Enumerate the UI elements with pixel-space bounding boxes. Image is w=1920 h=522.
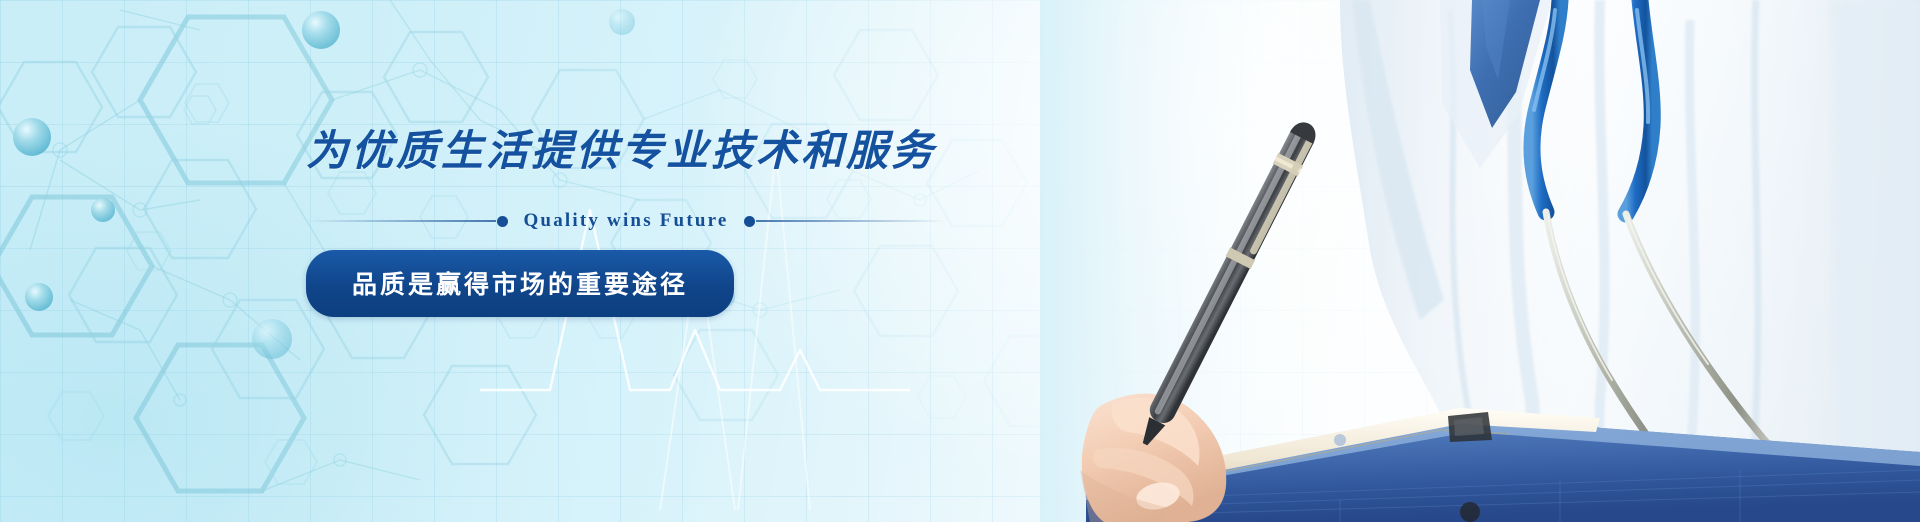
- english-tagline: Quality wins Future: [509, 210, 742, 232]
- banner-headline: 为优质生活提供专业技术和服务: [306, 128, 946, 174]
- slogan-pill[interactable]: 品质是赢得市场的重要途径: [306, 250, 734, 317]
- tagline-rule-left: [306, 220, 496, 222]
- english-tagline-row: Quality wins Future: [306, 210, 946, 232]
- tagline-rule-right: [756, 220, 946, 222]
- doctor-photo: [1040, 0, 1920, 522]
- medical-hero-banner: 为优质生活提供专业技术和服务 Quality wins Future 品质是赢得…: [0, 0, 1920, 522]
- tagline-dot-right-icon: [744, 216, 755, 227]
- banner-copy: 为优质生活提供专业技术和服务 Quality wins Future 品质是赢得…: [306, 128, 946, 317]
- tagline-dot-left-icon: [497, 216, 508, 227]
